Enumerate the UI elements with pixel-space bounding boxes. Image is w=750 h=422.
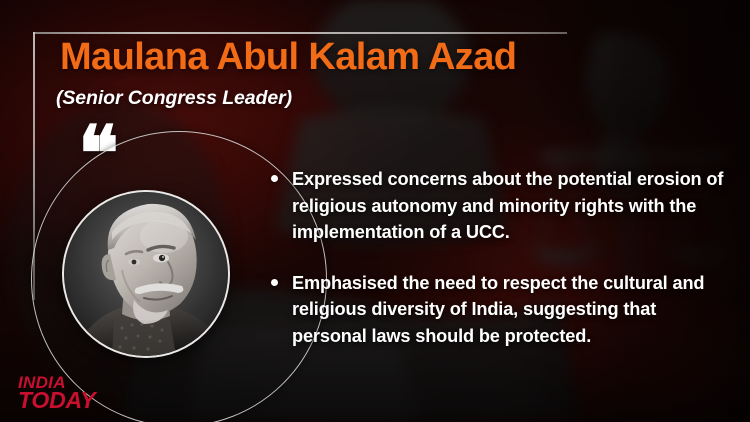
frame-rule-top bbox=[33, 32, 567, 34]
bullet-dot-icon bbox=[271, 279, 278, 286]
india-today-logo: INDIA TODAY bbox=[18, 374, 95, 412]
avatar bbox=[62, 190, 230, 358]
bullet-text: Emphasised the need to respect the cultu… bbox=[292, 270, 732, 350]
person-designation: (Senior Congress Leader) bbox=[56, 87, 292, 110]
bullet-list: Expressed concerns about the potential e… bbox=[266, 166, 732, 373]
person-name-title: Maulana Abul Kalam Azad bbox=[60, 36, 516, 79]
list-item: Emphasised the need to respect the cultu… bbox=[266, 270, 732, 350]
list-item: Expressed concerns about the potential e… bbox=[266, 166, 732, 246]
logo-line-today: TODAY bbox=[18, 389, 95, 412]
quote-card-graphic: Maulana Abul Kalam Azad (Senior Congress… bbox=[0, 0, 750, 422]
bullet-dot-icon bbox=[271, 175, 278, 182]
portrait-photo bbox=[64, 192, 228, 356]
bullet-text: Expressed concerns about the potential e… bbox=[292, 166, 732, 246]
